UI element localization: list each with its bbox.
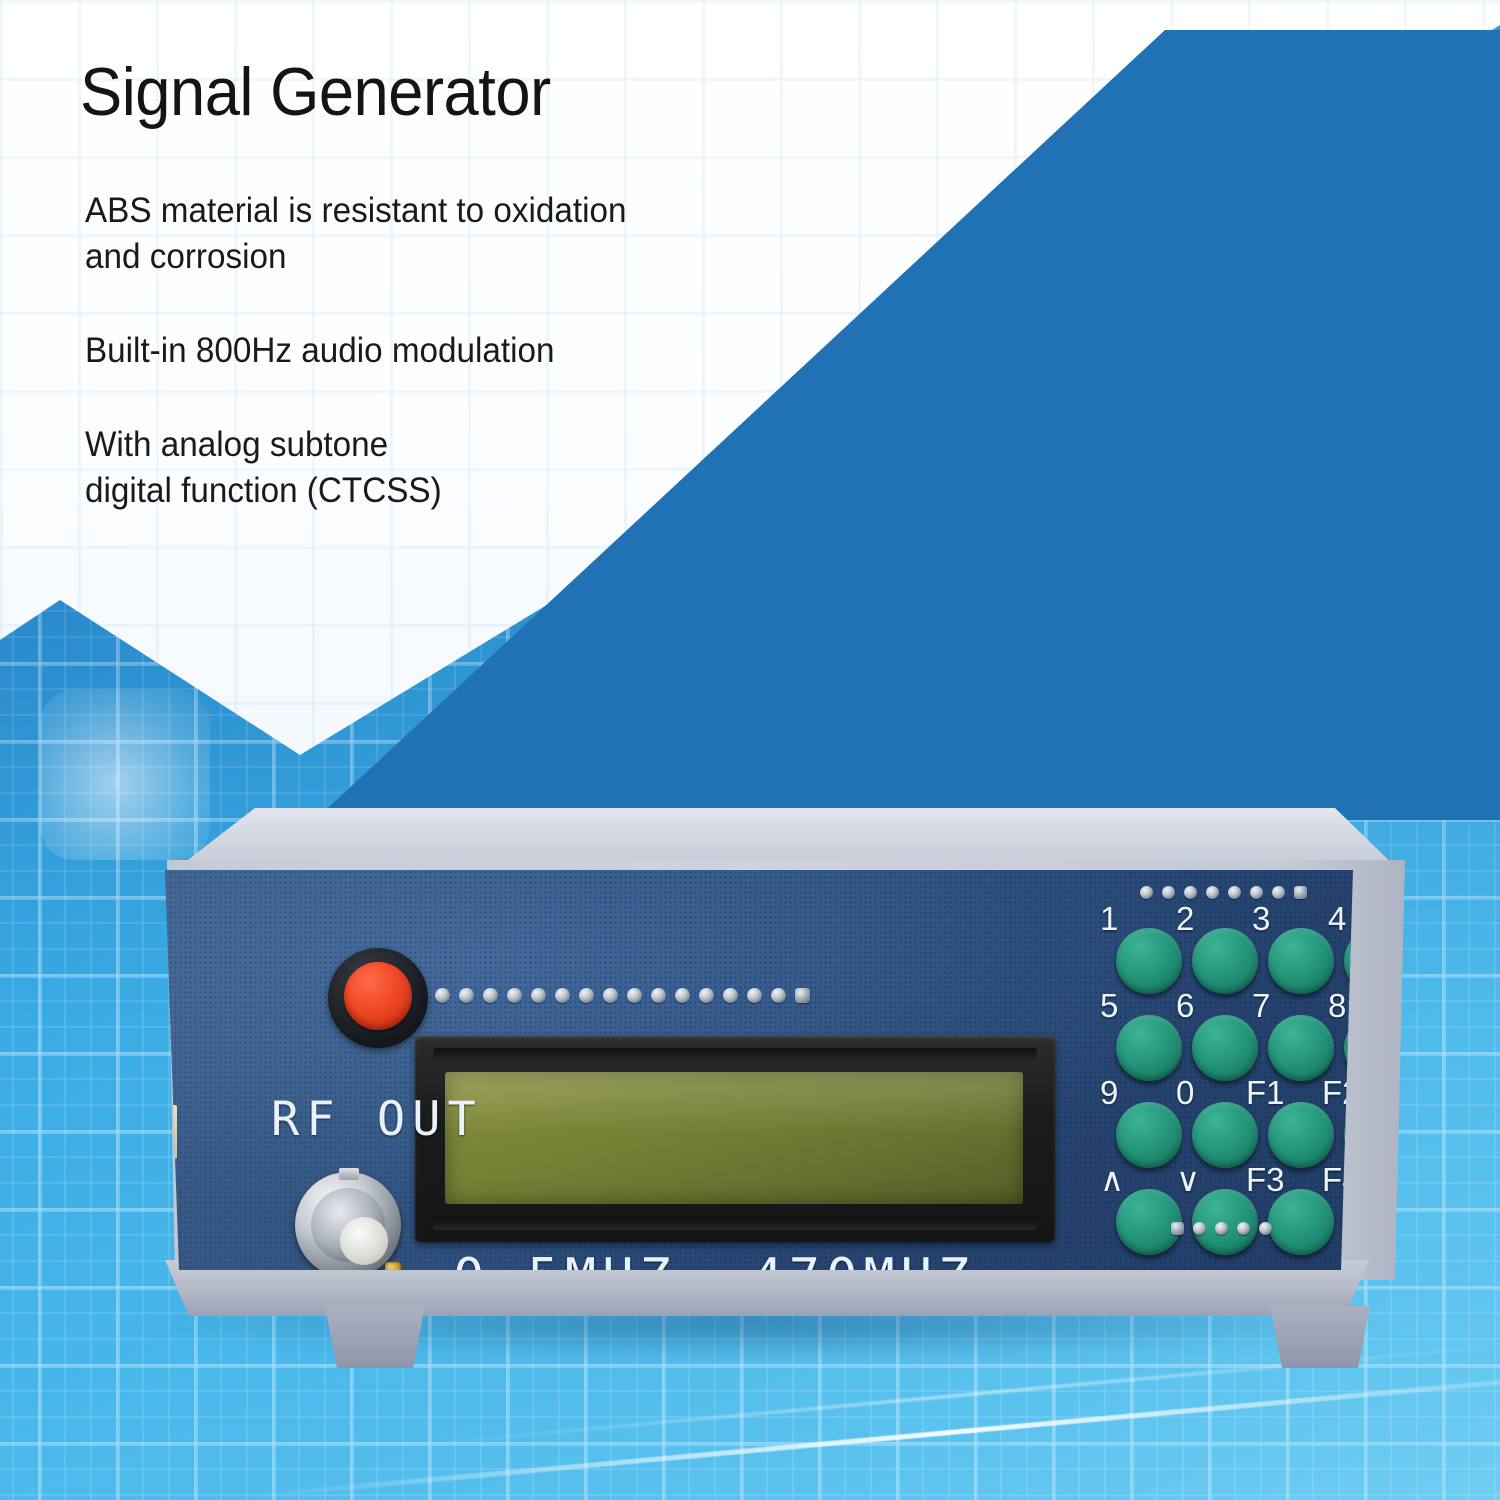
solder-pad — [699, 988, 714, 1003]
keypad-label-6: 6 — [1176, 989, 1194, 1022]
solder-pad — [531, 988, 546, 1003]
keypad-label-down: ∨ — [1176, 1163, 1200, 1196]
solder-pad — [1162, 886, 1175, 899]
solder-pad — [1250, 886, 1263, 899]
keypad-button-F3[interactable] — [1268, 1189, 1334, 1255]
feature-bullet-ctcss: With analog subtone digital function (CT… — [85, 422, 442, 513]
rf-out-label: RF OUT — [271, 1092, 483, 1147]
keypad-label-3: 3 — [1252, 902, 1270, 935]
solder-pad — [771, 988, 786, 1003]
power-button-bezel — [328, 948, 428, 1048]
page-title: Signal Generator — [80, 58, 551, 126]
lcd-bezel-rail-bottom — [433, 1217, 1037, 1230]
solder-pad — [1206, 886, 1219, 899]
solder-pad — [1237, 1222, 1250, 1235]
bnc-insulator — [340, 1217, 388, 1265]
feature-bullet-modulation: Built-in 800Hz audio modulation — [85, 328, 554, 374]
front-panel: RF OUT 0.5MHZ--470MHZ 1234567890F1F2∧∨F3… — [143, 870, 1368, 1270]
keypad-label-7: 7 — [1252, 989, 1270, 1022]
keypad-label-5: 5 — [1100, 989, 1118, 1022]
solder-pad — [579, 988, 594, 1003]
keypad-button-9[interactable] — [1116, 1102, 1182, 1168]
keypad-button-F1[interactable] — [1268, 1102, 1334, 1168]
keypad-label-F1: F1 — [1246, 1076, 1285, 1109]
solder-pad-row-keypad — [1140, 886, 1307, 899]
solder-pad — [651, 988, 666, 1003]
solder-pad — [555, 988, 570, 1003]
keypad-label-9: 9 — [1100, 1076, 1118, 1109]
keypad-button-0[interactable] — [1192, 1102, 1258, 1168]
solder-pad — [723, 988, 738, 1003]
bnc-outer-ring — [311, 1188, 385, 1262]
keypad-label-F3: F3 — [1246, 1163, 1285, 1196]
solder-pad — [603, 988, 618, 1003]
solder-pad — [1294, 886, 1307, 899]
keypad-label-0: 0 — [1176, 1076, 1194, 1109]
keypad-button-7[interactable] — [1268, 1015, 1334, 1081]
solder-pad — [1171, 1222, 1184, 1235]
solder-pad — [1228, 886, 1241, 899]
solder-pad — [1259, 1222, 1272, 1235]
lcd-bezel-rail-top — [433, 1048, 1037, 1061]
keypad-button-1[interactable] — [1116, 928, 1182, 994]
keypad-label-8: 8 — [1328, 989, 1346, 1022]
rf-out-bnc-connector[interactable] — [295, 1172, 401, 1270]
solder-pad — [1193, 1222, 1206, 1235]
keypad-button-6[interactable] — [1192, 1015, 1258, 1081]
solder-pad — [747, 988, 762, 1003]
solder-pad — [507, 988, 522, 1003]
solder-pad — [1215, 1222, 1228, 1235]
bnc-bayonet-tab-top — [339, 1168, 359, 1180]
solder-pad — [1272, 886, 1285, 899]
keypad-label-1: 1 — [1100, 902, 1118, 935]
keypad: 1234567890F1F2∧∨F3F4 — [1098, 900, 1368, 1255]
keypad-button-3[interactable] — [1268, 928, 1334, 994]
solder-pad — [435, 988, 450, 1003]
device-foot-left — [325, 1306, 425, 1368]
product-banner: Signal Generator ABS material is resista… — [0, 0, 1500, 1500]
solder-pad — [459, 988, 474, 1003]
device-foot-right — [1270, 1306, 1370, 1368]
lcd-gloss — [445, 1072, 1023, 1133]
keypad-button-5[interactable] — [1116, 1015, 1182, 1081]
solder-pad — [1140, 886, 1153, 899]
solder-pad — [483, 988, 498, 1003]
solder-pad — [795, 988, 810, 1003]
lcd-display-module — [415, 1036, 1055, 1242]
solder-pad — [627, 988, 642, 1003]
keypad-button-2[interactable] — [1192, 928, 1258, 994]
lcd-screen — [445, 1072, 1023, 1204]
solder-pad-row-top — [435, 988, 810, 1003]
solder-pad — [1184, 886, 1197, 899]
feature-bullet-material: ABS material is resistant to oxidation a… — [85, 188, 626, 279]
solder-pad-row-bottom — [1171, 1222, 1272, 1235]
keypad-label-2: 2 — [1176, 902, 1194, 935]
keypad-label-4: 4 — [1328, 902, 1346, 935]
solder-pad — [675, 988, 690, 1003]
keypad-label-up: ∧ — [1100, 1163, 1124, 1196]
power-button[interactable] — [344, 962, 412, 1030]
signal-generator-device: RF OUT 0.5MHZ--470MHZ 1234567890F1F2∧∨F3… — [95, 808, 1415, 1378]
frequency-range-label: 0.5MHZ--470MHZ — [453, 1248, 975, 1270]
bnc-center-pin — [385, 1262, 401, 1270]
